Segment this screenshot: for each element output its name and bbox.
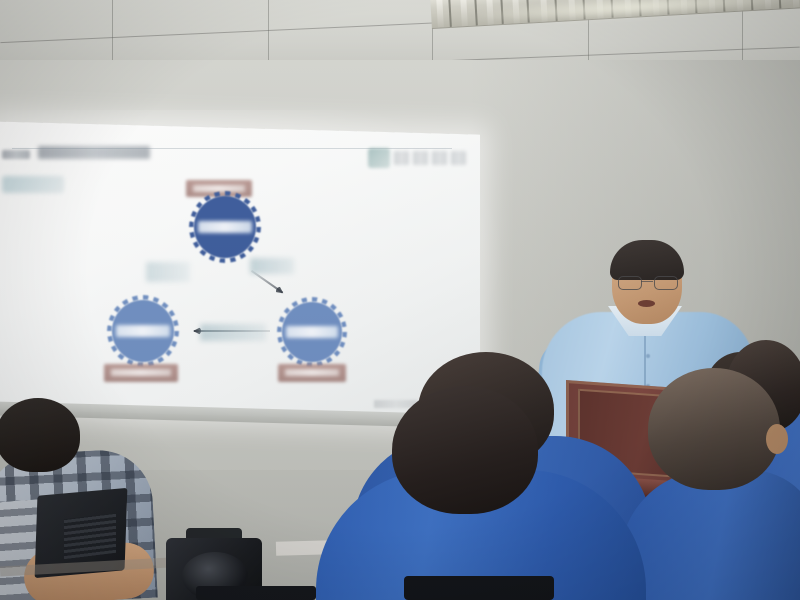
brand-word-2 <box>413 151 428 165</box>
glasses-icon <box>618 276 676 288</box>
audience-ear-front-right <box>766 424 788 454</box>
arrow-caption-bottom <box>200 324 266 341</box>
audience-head-front-center <box>392 386 538 514</box>
presentation-room-photo <box>0 0 800 600</box>
slide-subtitle <box>2 176 64 193</box>
slide-corner-mark <box>2 150 30 159</box>
projection-screen <box>0 121 480 422</box>
audience-head-front-right <box>648 368 780 490</box>
brand-logo-icon <box>368 148 390 168</box>
chair-back-center <box>404 576 554 600</box>
arrow-caption-top-right <box>250 258 294 274</box>
left-person-head <box>0 398 80 472</box>
chair-back-left <box>196 586 316 600</box>
node-label-bottom-left <box>116 325 171 337</box>
laptop-keyboard <box>64 513 116 559</box>
node-label-top <box>198 221 253 233</box>
node-label-bottom-right <box>286 326 339 338</box>
node-tag-bottom-left <box>104 364 178 382</box>
node-tag-bottom-right <box>278 364 346 382</box>
brand-word-1 <box>394 151 409 165</box>
presenter-mouth <box>638 300 655 307</box>
brand-word-3 <box>432 151 447 165</box>
gear-node-bottom-right <box>282 302 342 362</box>
gear-node-bottom-left <box>112 300 174 362</box>
arrow-caption-left-top <box>146 262 190 282</box>
brand-word-4 <box>451 151 466 165</box>
gear-node-top <box>194 196 256 258</box>
